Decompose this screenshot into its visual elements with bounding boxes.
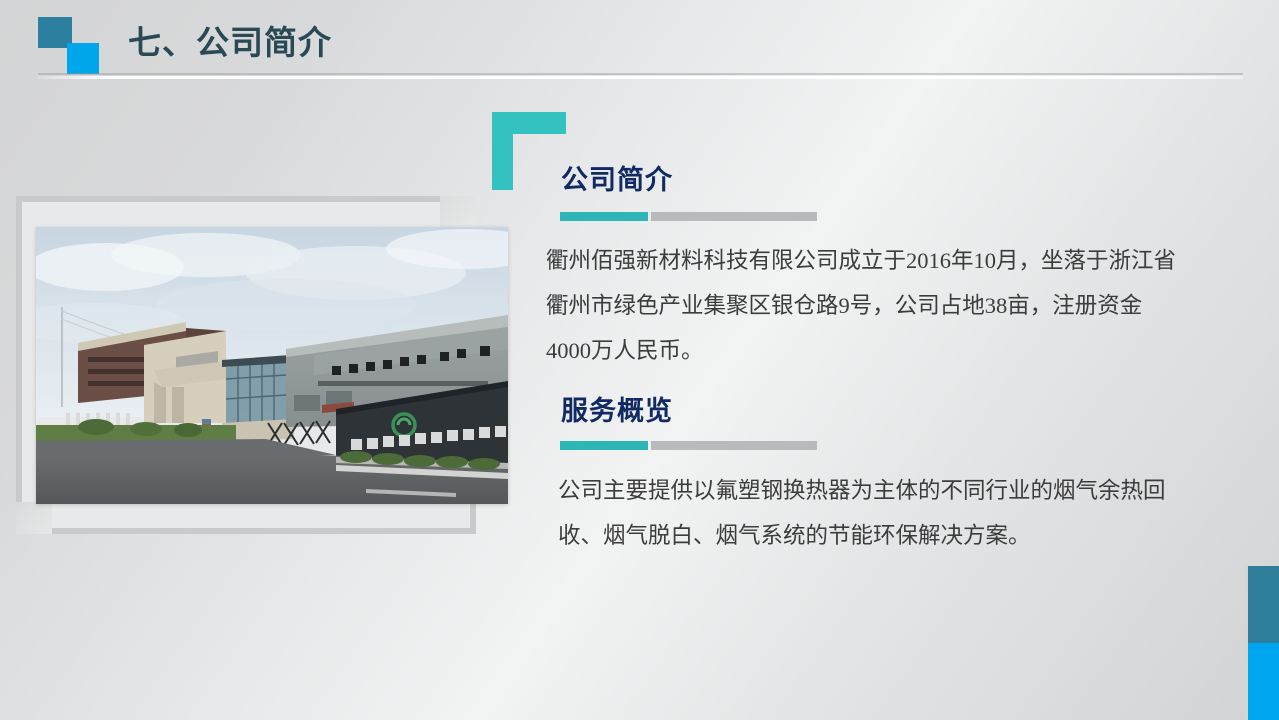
corner-accent-bright: [1248, 643, 1279, 720]
page-title: 七、公司简介: [128, 16, 332, 64]
facility-photo: [36, 227, 508, 504]
service-overview-paragraph: 公司主要提供以氟塑钢换热器为主体的不同行业的烟气余热回 收、烟气脱白、烟气系统的…: [558, 468, 1166, 558]
divider-teal-segment: [560, 212, 648, 221]
bracket-vertical-bar: [492, 112, 513, 190]
paragraph-line: 衢州佰强新材料科技有限公司成立于2016年10月，坐落于浙江省: [546, 238, 1176, 283]
photo-frame-notch-top-right: [440, 196, 476, 228]
corner-accent-dark: [1248, 566, 1279, 643]
section-divider-1: [560, 212, 817, 221]
header-rule-shadow: [38, 73, 1243, 75]
divider-gray-segment: [651, 212, 817, 221]
paragraph-line: 公司主要提供以氟塑钢换热器为主体的不同行业的烟气余热回: [558, 468, 1166, 513]
section-heading-company-intro: 公司简介: [561, 158, 673, 197]
divider-gray-segment: [651, 441, 817, 450]
photo-frame-notch-bottom-left: [16, 502, 52, 534]
header-rule: [38, 76, 1243, 79]
facility-photo-block: [16, 196, 476, 534]
paragraph-line: 4000万人民币。: [546, 328, 1176, 373]
paragraph-line: 衢州市绿色产业集聚区银仓路9号，公司占地38亩，注册资金: [546, 283, 1176, 328]
square-bright-icon: [67, 43, 99, 74]
divider-teal-segment: [560, 441, 648, 450]
section-divider-2: [560, 441, 817, 450]
paragraph-line: 收、烟气脱白、烟气系统的节能环保解决方案。: [558, 513, 1166, 558]
company-intro-paragraph: 衢州佰强新材料科技有限公司成立于2016年10月，坐落于浙江省 衢州市绿色产业集…: [546, 238, 1176, 373]
section-heading-service-overview: 服务概览: [561, 389, 673, 428]
corner-bracket-icon: [492, 112, 566, 190]
slide-canvas: 七、公司简介: [0, 0, 1279, 720]
header-decoration-squares: [38, 17, 114, 73]
